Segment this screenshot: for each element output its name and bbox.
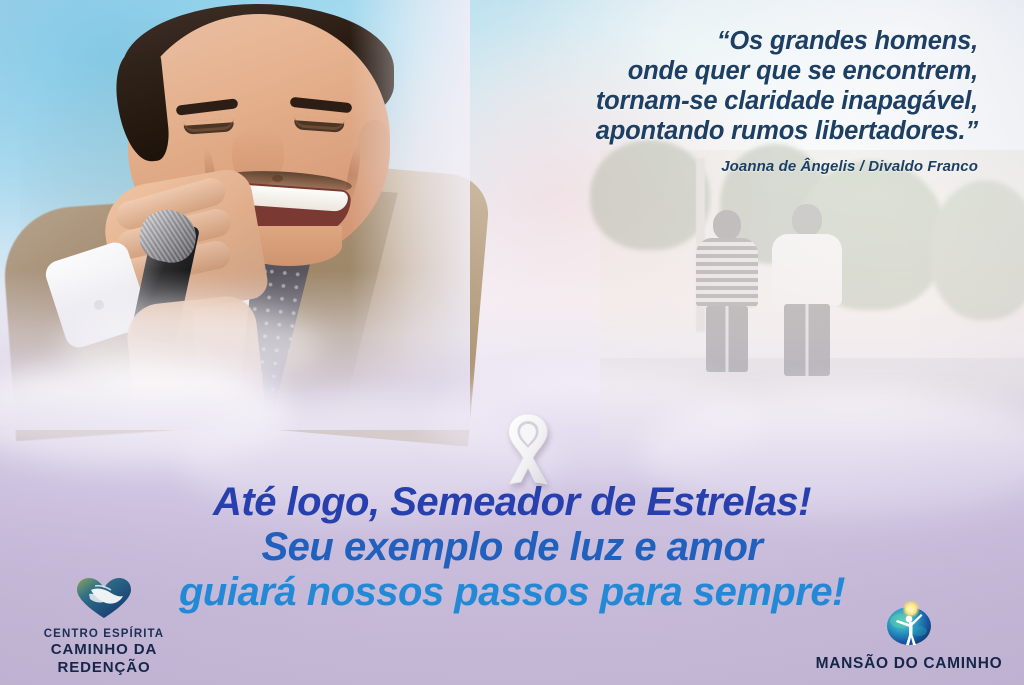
globe-torch-figure-icon xyxy=(802,601,1016,652)
heart-hands-icon xyxy=(6,576,202,625)
logo-left-line-1: CENTRO ESPÍRITA xyxy=(6,627,202,641)
headline-line-1: Até logo, Semeador de Estrelas! xyxy=(0,482,1024,522)
white-mourning-ribbon-icon xyxy=(495,410,561,488)
quote-line-2: onde quer que se encontrem, xyxy=(418,56,978,86)
logo-left-line-2: CAMINHO DA REDENÇÃO xyxy=(6,641,202,677)
memorial-poster: “Os grandes homens, onde quer que se enc… xyxy=(0,0,1024,685)
logo-mansao-do-caminho: MANSÃO DO CAMINHO xyxy=(802,601,1016,673)
quote-line-4: apontando rumos libertadores.” xyxy=(418,116,978,146)
quote-block: “Os grandes homens, onde quer que se enc… xyxy=(418,26,978,175)
logo-right-line-1: MANSÃO DO CAMINHO xyxy=(802,654,1016,673)
headline-line-2: Seu exemplo de luz e amor xyxy=(0,527,1024,567)
quote-line-1: “Os grandes homens, xyxy=(418,26,978,56)
quote-line-3: tornam-se claridade inapagável, xyxy=(418,86,978,116)
logo-centro-espirita: CENTRO ESPÍRITA CAMINHO DA REDENÇÃO xyxy=(6,576,202,677)
quote-author: Joanna de Ângelis / Divaldo Franco xyxy=(418,158,978,175)
